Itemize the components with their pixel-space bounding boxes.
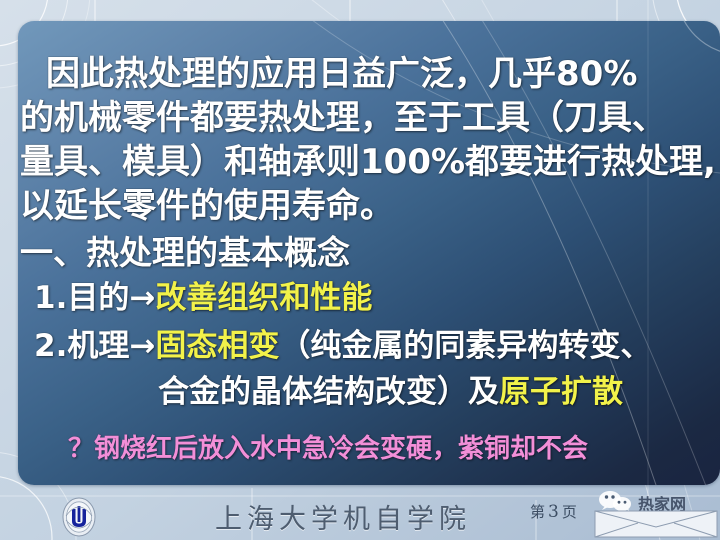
shanghai-university-seal-logo: [58, 496, 100, 538]
question-prompt-line: ？钢烧红后放入水中急冷会变硬，紫铜却不会: [68, 428, 588, 465]
footer-organization-title: 上海大学机自学院: [215, 497, 471, 536]
page-number-value: 3: [545, 502, 562, 522]
body-paragraph-line-4: 以延长零件的使用寿命。: [20, 189, 394, 223]
list-item-1-number: 1.: [34, 280, 67, 316]
page-label-suffix: 页: [562, 503, 577, 521]
list-item-2-highlight: 固态相变: [155, 328, 279, 364]
list-item-1-label: 目的→: [67, 280, 155, 316]
list-item-1: 1.目的→改善组织和性能: [34, 283, 372, 314]
slide-content-panel: 因此热处理的应用日益广泛，几乎80% 的机械零件都要热处理，至于工具（刀具、 量…: [18, 21, 720, 485]
section-heading: 一、热处理的基本概念: [20, 236, 350, 269]
body-paragraph-line-2: 的机械零件都要热处理，至于工具（刀具、: [20, 101, 666, 135]
slide-text-body: 因此热处理的应用日益广泛，几乎80% 的机械零件都要热处理，至于工具（刀具、 量…: [18, 21, 720, 485]
page-number-indicator: 第3页: [530, 501, 577, 522]
list-item-2-label: 机理→: [67, 328, 155, 364]
watermark-badge: 热家网: [594, 490, 718, 538]
list-item-2-tail: （纯金属的同素异构转变、: [279, 328, 651, 364]
envelope-icon: [594, 510, 718, 538]
list-item-2-continuation: 合金的晶体结构改变）及原子扩散: [158, 377, 623, 408]
body-paragraph-line-1: 因此热处理的应用日益广泛，几乎80%: [46, 57, 637, 91]
body-paragraph-line-3: 量具、模具）和轴承则100%都要进行热处理,: [20, 145, 716, 179]
list-item-2-continuation-plain: 合金的晶体结构改变）及: [158, 374, 499, 410]
list-item-1-highlight: 改善组织和性能: [155, 280, 372, 316]
list-item-2-continuation-highlight: 原子扩散: [499, 374, 623, 410]
presentation-slide: 因此热处理的应用日益广泛，几乎80% 的机械零件都要热处理，至于工具（刀具、 量…: [0, 0, 720, 540]
list-item-2: 2.机理→固态相变（纯金属的同素异构转变、: [34, 331, 651, 362]
page-label-prefix: 第: [530, 503, 545, 521]
list-item-2-number: 2.: [34, 328, 67, 364]
